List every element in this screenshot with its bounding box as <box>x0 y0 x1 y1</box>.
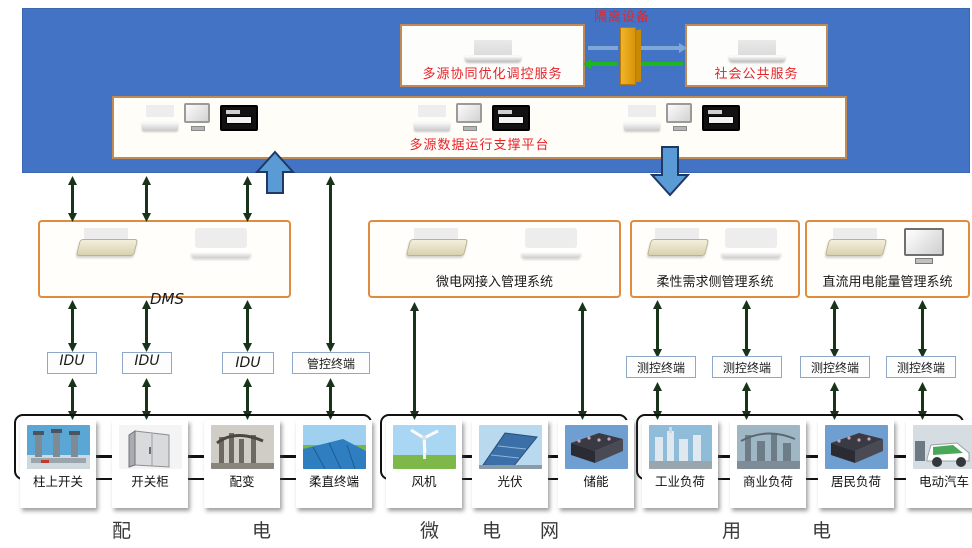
network-device-icon <box>220 105 258 131</box>
link-arrow-measure-3 <box>830 300 839 358</box>
platform-icon-group-1 <box>142 103 258 131</box>
battery-rack-photo-icon <box>565 425 628 469</box>
battery-rack-photo-icon <box>825 425 888 469</box>
device-card[interactable]: 风机 <box>386 420 462 508</box>
device-label: 配变 <box>229 471 254 490</box>
service-label: 社会公共服务 <box>714 63 798 85</box>
platform-label: 多源数据运行支撑平台 <box>114 134 845 153</box>
terminal-measure-2[interactable]: 测控终端 <box>712 356 782 378</box>
link-arrow-idu-1 <box>68 300 77 352</box>
device-label: 电动汽车 <box>919 471 969 490</box>
category-label: 用 <box>722 516 741 543</box>
system-box-dc-energy[interactable]: 直流用电能量管理系统 <box>805 220 970 298</box>
device-label: 开关柜 <box>131 471 169 490</box>
terminal-idu-3[interactable]: IDU <box>222 352 274 374</box>
system-label: 直流用电能量管理系统 <box>807 271 968 290</box>
pole-switch-photo-icon <box>27 425 90 469</box>
laptop-icon <box>191 228 251 260</box>
server-icon <box>78 228 136 258</box>
device-label: 储能 <box>583 471 608 490</box>
laptop-icon <box>465 40 521 62</box>
category-label: 电 <box>482 516 501 543</box>
system-label: 微电网接入管理系统 <box>370 271 619 290</box>
server-icon <box>649 228 707 258</box>
isolation-device-icon <box>616 27 642 85</box>
service-label: 多源协同优化调控服务 <box>422 63 562 85</box>
link-arrow-control-terminal-top <box>326 176 335 352</box>
device-label: 商业负荷 <box>743 471 793 490</box>
terminal-measure-4[interactable]: 测控终端 <box>886 356 956 378</box>
device-card[interactable]: 光伏 <box>472 420 548 508</box>
arrowhead-blue-icon <box>679 43 687 53</box>
category-label: 配 <box>112 516 131 543</box>
server-icon <box>624 105 660 131</box>
link-arrow-microgrid-2 <box>578 302 587 420</box>
laptop-icon <box>721 228 781 260</box>
system-box-microgrid[interactable]: 微电网接入管理系统 <box>368 220 621 298</box>
device-card[interactable]: 开关柜 <box>112 420 188 508</box>
category-label: 电 <box>252 516 271 543</box>
solar-field-photo-icon <box>303 425 366 469</box>
link-arrow-dms-up <box>68 176 77 222</box>
network-device-icon <box>492 105 530 131</box>
device-card[interactable]: 柔直终端 <box>296 420 372 508</box>
device-label: 柔直终端 <box>309 471 359 490</box>
category-label: 电 <box>812 516 831 543</box>
factory-photo-icon <box>649 425 712 469</box>
link-arrow-idu-3 <box>243 300 252 352</box>
terminal-measure-1[interactable]: 测控终端 <box>626 356 696 378</box>
isolation-device-label: 隔离设备 <box>594 6 650 25</box>
link-arrow-measure-2 <box>742 300 751 358</box>
transformer-photo-icon <box>211 425 274 469</box>
link-green-right <box>641 62 683 66</box>
device-label: 风机 <box>411 471 436 490</box>
laptop-icon <box>521 228 581 260</box>
link-blue-left <box>588 46 618 50</box>
monitor-icon <box>456 103 486 131</box>
wind-turbine-photo-icon <box>393 425 456 469</box>
terminal-idu-1[interactable]: IDU <box>47 352 97 374</box>
arrowhead-green-icon <box>583 59 591 69</box>
link-arrow-microgrid-1 <box>410 302 419 420</box>
device-label: 居民负荷 <box>831 471 881 490</box>
data-support-platform: 多源数据运行支撑平台 <box>112 96 847 159</box>
system-label: DMS <box>150 293 184 306</box>
link-blue-right <box>641 46 681 50</box>
service-box-public[interactable]: 社会公共服务 <box>685 24 828 87</box>
device-card[interactable]: 柱上开关 <box>20 420 96 508</box>
server-icon <box>142 105 178 131</box>
device-card[interactable]: 工业负荷 <box>642 420 718 508</box>
solar-panel-photo-icon <box>479 425 542 469</box>
terminal-control[interactable]: 管控终端 <box>292 352 370 374</box>
terminal-measure-3[interactable]: 测控终端 <box>800 356 870 378</box>
device-label: 工业负荷 <box>655 471 705 490</box>
monitor-icon <box>184 103 214 131</box>
link-arrow-measure-1 <box>653 300 662 358</box>
server-icon <box>414 105 450 131</box>
server-icon <box>408 228 466 258</box>
link-green-left <box>588 62 618 66</box>
system-label: 柔性需求侧管理系统 <box>632 271 798 290</box>
server-icon <box>827 228 885 258</box>
device-card[interactable]: 商业负荷 <box>730 420 806 508</box>
arrow-down-from-platform-icon <box>650 145 690 197</box>
link-arrow-dms-3 <box>243 176 252 222</box>
laptop-icon <box>729 40 785 62</box>
platform-icon-group-3 <box>624 103 740 131</box>
link-arrow-dms-2 <box>142 176 151 222</box>
service-box-multi-source[interactable]: 多源协同优化调控服务 <box>400 24 585 87</box>
device-card[interactable]: 配变 <box>204 420 280 508</box>
device-card[interactable]: 储能 <box>558 420 634 508</box>
device-card[interactable]: 电动汽车 <box>906 420 972 508</box>
category-label: 网 <box>540 516 559 543</box>
category-label: 微 <box>420 516 439 543</box>
monitor-icon <box>904 228 948 264</box>
network-device-icon <box>702 105 740 131</box>
terminal-idu-2[interactable]: IDU <box>122 352 172 374</box>
commercial-plant-photo-icon <box>737 425 800 469</box>
platform-icon-group-2 <box>414 103 530 131</box>
link-arrow-idu-2 <box>142 300 151 352</box>
system-box-flexible-demand[interactable]: 柔性需求侧管理系统 <box>630 220 800 298</box>
ev-car-photo-icon <box>913 425 972 469</box>
device-label: 光伏 <box>497 471 522 490</box>
device-card[interactable]: 居民负荷 <box>818 420 894 508</box>
link-arrow-measure-4 <box>918 300 927 358</box>
system-box-dms[interactable]: DMS <box>38 220 291 298</box>
device-label: 柱上开关 <box>33 471 83 490</box>
arrow-up-to-platform-icon <box>255 150 295 195</box>
monitor-icon <box>666 103 696 131</box>
switchgear-photo-icon <box>119 425 182 469</box>
